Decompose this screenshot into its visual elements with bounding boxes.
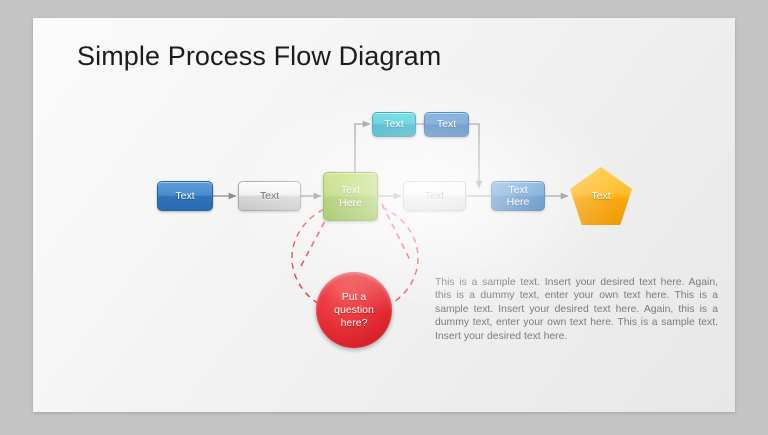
node-branch1[interactable]: Text (372, 112, 416, 137)
node-step3[interactable]: Text Here (491, 181, 545, 211)
node-branch2-label: Text (437, 118, 456, 131)
node-step3-label-line1: Text (508, 184, 527, 197)
node-branch1-label: Text (384, 118, 403, 131)
node-question-label-line1: Put a (342, 291, 367, 303)
process-flow-diagram: Text Text Text Here Text Text Here Text … (33, 18, 735, 412)
node-decision-label-line2: Here (339, 197, 362, 210)
node-step2[interactable]: Text (403, 181, 466, 211)
node-step3-label-line2: Here (507, 196, 530, 209)
node-end-label: Text (591, 190, 610, 202)
node-branch2[interactable]: Text (424, 112, 469, 137)
node-decision-label-line1: Text (341, 184, 360, 197)
slide-frame: Simple Process Flow Diagram (0, 0, 768, 435)
slide-canvas: Simple Process Flow Diagram (33, 18, 735, 412)
node-question-label-line2: question (334, 304, 374, 316)
node-decision[interactable]: Text Here (323, 172, 378, 221)
node-step1[interactable]: Text (238, 181, 301, 211)
node-step2-label: Text (425, 190, 444, 203)
body-paragraph: This is a sample text. Insert your desir… (435, 276, 718, 343)
node-question-callout[interactable]: Put a question here? (316, 272, 392, 348)
node-step1-label: Text (260, 190, 279, 203)
node-start[interactable]: Text (157, 181, 213, 211)
connector-lines (33, 18, 735, 412)
node-question-label-line3: here? (341, 317, 368, 329)
node-start-label: Text (175, 190, 194, 203)
